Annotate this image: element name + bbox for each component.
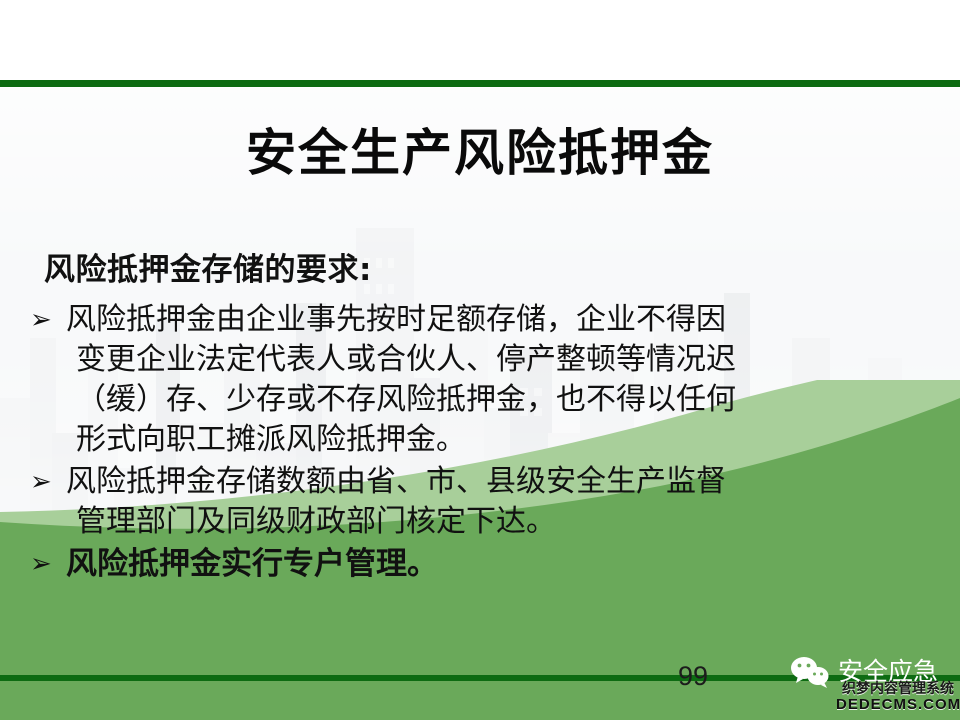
top-divider-rule xyxy=(0,80,960,87)
text-line: 风险抵押金由企业事先按时足额存储，企业不得因 xyxy=(66,300,938,340)
text-line: 形式向职工摊派风险抵押金。 xyxy=(66,420,938,460)
text-line: 风险抵押金实行专户管理。 xyxy=(66,544,938,584)
list-item: ➢ 风险抵押金实行专户管理。 xyxy=(28,544,938,584)
slide-canvas: 安全生产风险抵押金 风险抵押金存储的要求: ➢ 风险抵押金由企业事先按时足额存储… xyxy=(0,0,960,720)
page-title: 安全生产风险抵押金 xyxy=(0,124,960,182)
list-item-text: 风险抵押金实行专户管理。 xyxy=(66,544,938,584)
list-item: ➢ 风险抵押金存储数额由省、市、县级安全生产监督 管理部门及同级财政部门核定下达… xyxy=(28,462,938,542)
watermark-en-text: DEDECMS.COM xyxy=(836,697,960,713)
arrow-bullet-icon: ➢ xyxy=(30,462,52,502)
text-line: （缓）存、少存或不存风险抵押金，也不得以任何 xyxy=(66,380,938,420)
text-line: 风险抵押金存储数额由省、市、县级安全生产监督 xyxy=(66,462,938,502)
page-number: 99 xyxy=(678,660,708,692)
list-item: ➢ 风险抵押金由企业事先按时足额存储，企业不得因 变更企业法定代表人或合伙人、停… xyxy=(28,300,938,460)
watermark: 织梦内容管理系统 DEDECMS.COM xyxy=(836,682,960,712)
wechat-icon xyxy=(790,655,830,689)
list-item-text: 风险抵押金由企业事先按时足额存储，企业不得因 变更企业法定代表人或合伙人、停产整… xyxy=(66,300,938,460)
arrow-bullet-icon: ➢ xyxy=(30,300,52,340)
text-line: 管理部门及同级财政部门核定下达。 xyxy=(66,502,938,542)
watermark-cn-text: 织梦内容管理系统 xyxy=(836,682,960,697)
list-item-text: 风险抵押金存储数额由省、市、县级安全生产监督 管理部门及同级财政部门核定下达。 xyxy=(66,462,938,542)
arrow-bullet-icon: ➢ xyxy=(30,544,52,584)
text-line: 变更企业法定代表人或合伙人、停产整顿等情况迟 xyxy=(66,340,938,380)
bullet-list: ➢ 风险抵押金由企业事先按时足额存储，企业不得因 变更企业法定代表人或合伙人、停… xyxy=(28,300,938,586)
section-subtitle: 风险抵押金存储的要求: xyxy=(44,250,372,290)
